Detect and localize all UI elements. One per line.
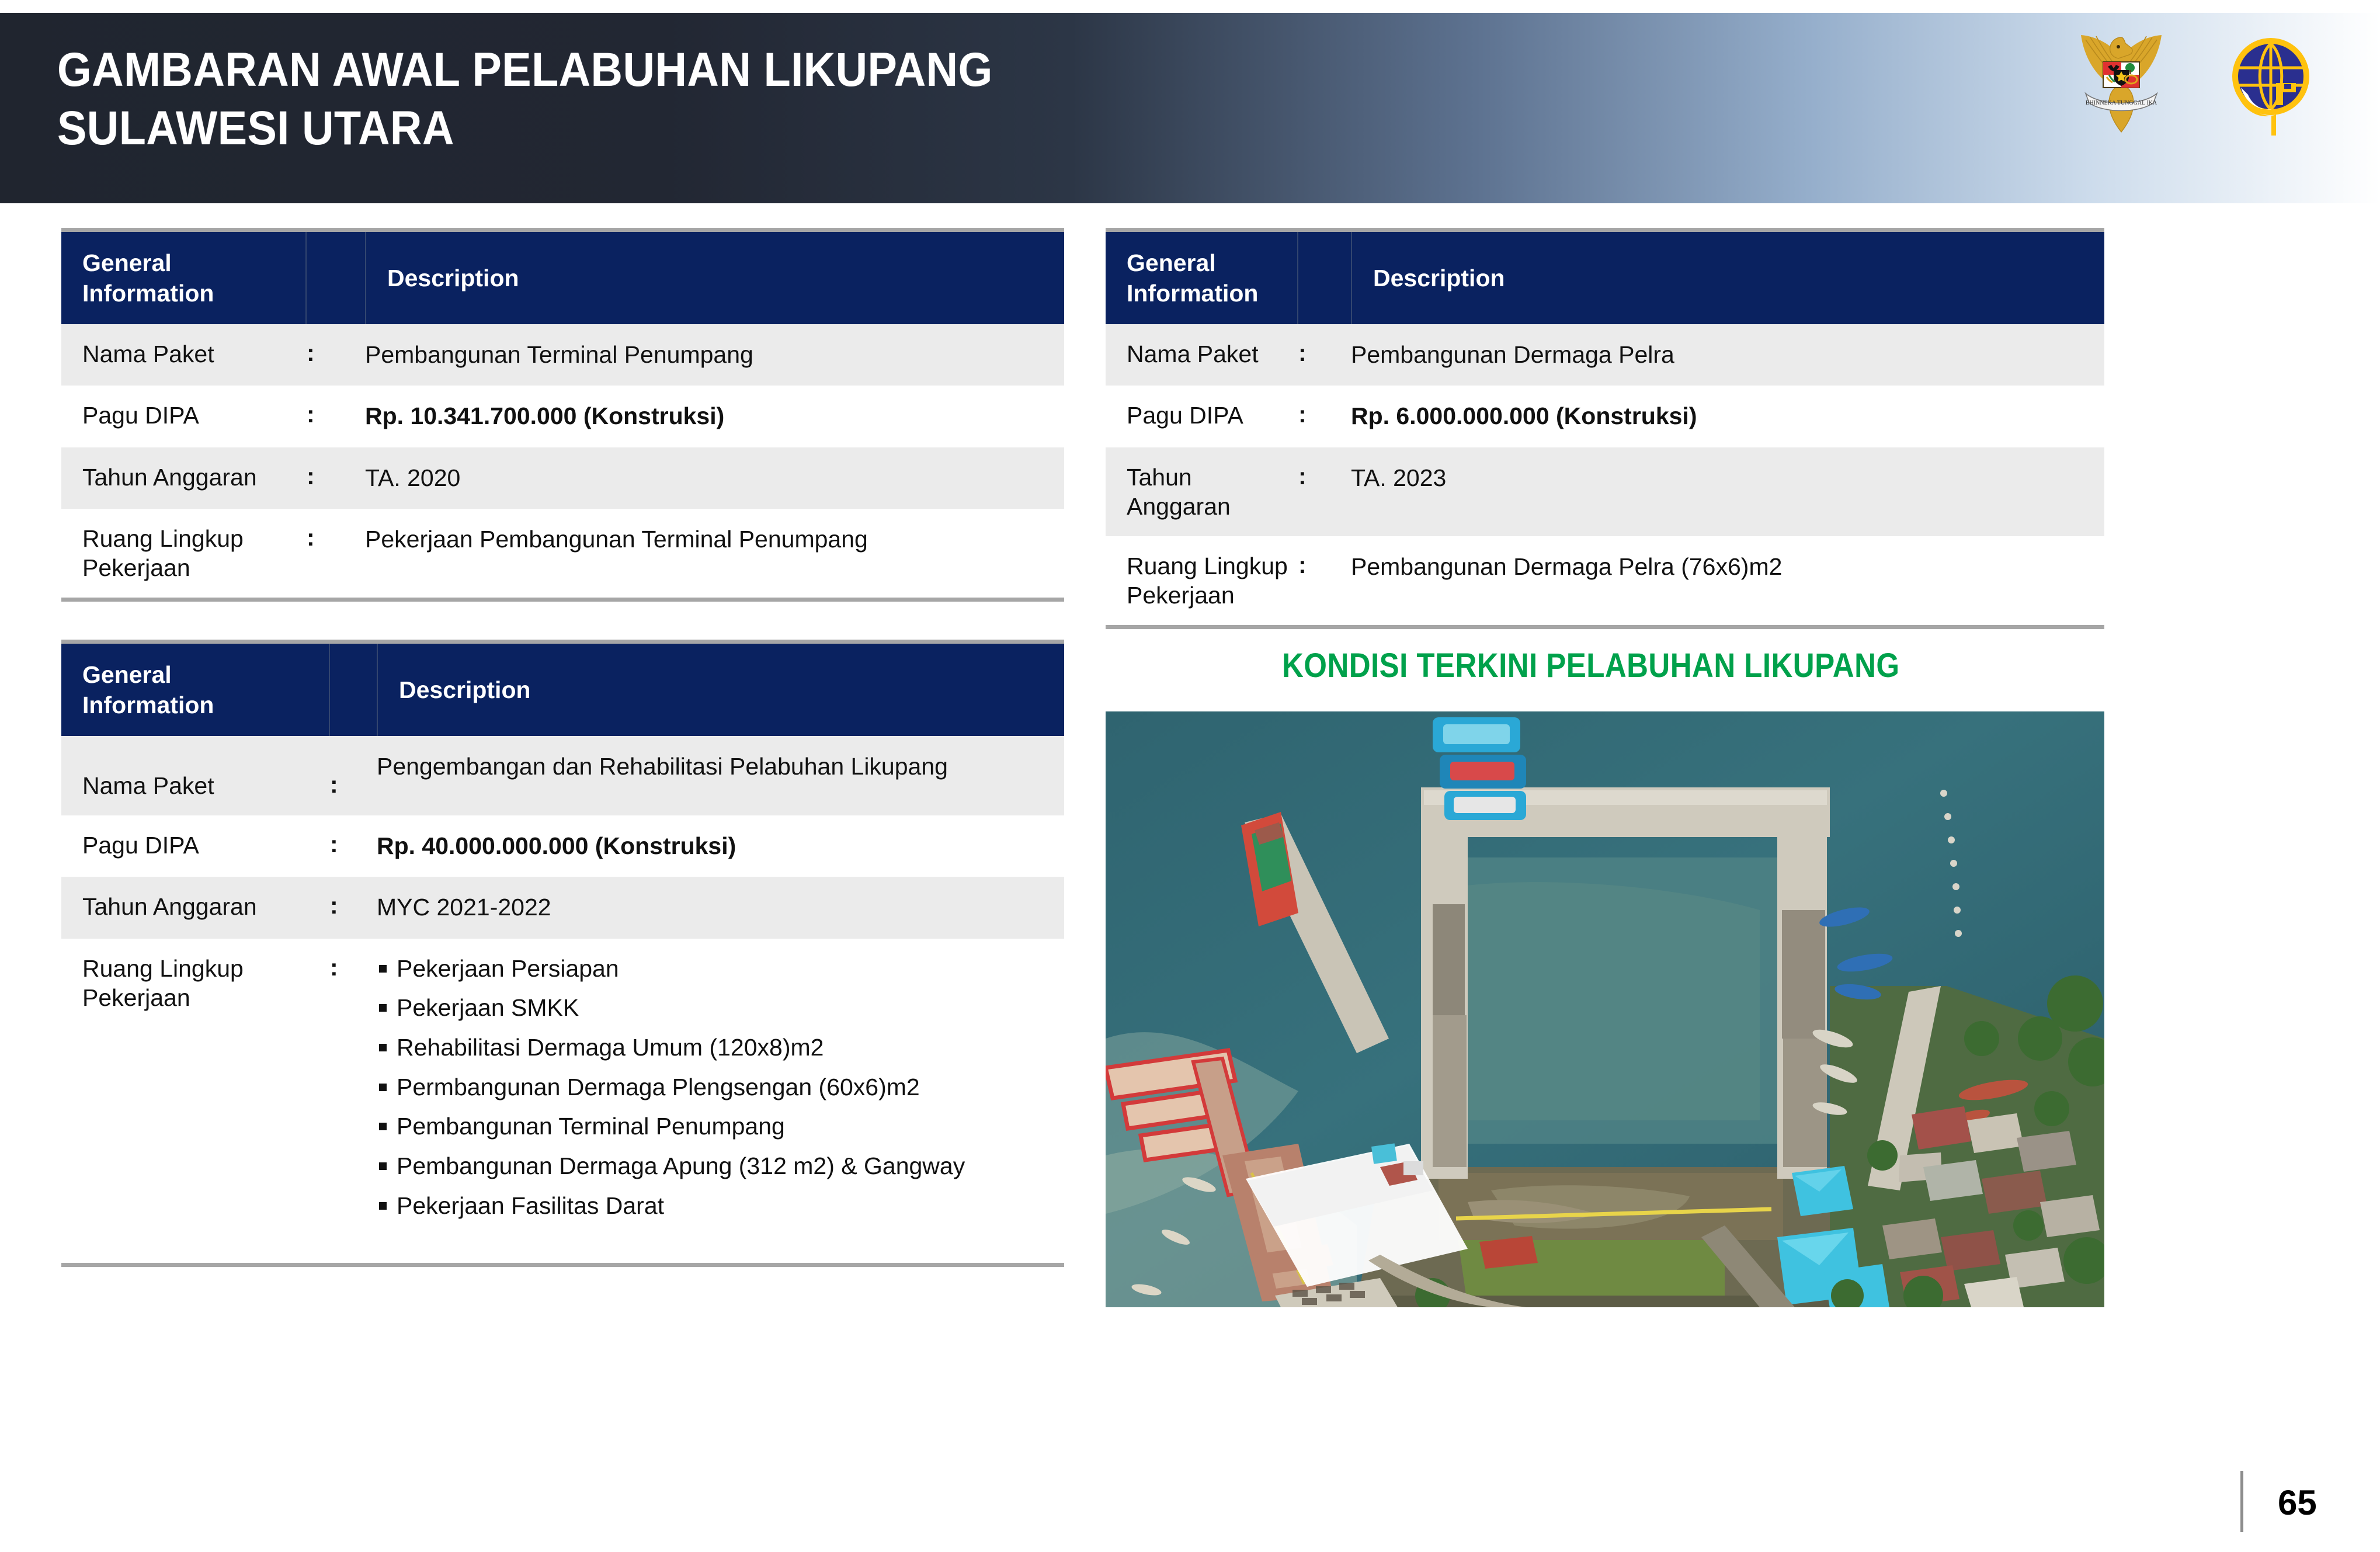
table-terminal-penumpang: General Information Description Nama Pak… [61,228,1064,602]
row-key: Pagu DIPA [61,815,330,875]
table-bottom-rule [61,1263,1064,1267]
table-row: Ruang Lingkup Pekerjaan : Pembangunan De… [1106,536,2104,625]
column-header-general-information: General Information [61,232,307,324]
table-top-rule [61,228,1064,232]
row-separator: : [330,939,377,997]
row-value: Rp. 6.000.000.000 (Konstruksi) [1351,386,2104,447]
scope-list-item: Pembangunan Dermaga Apung (312 m2) & Gan… [377,1151,1029,1182]
row-key: Pagu DIPA [1106,386,1298,445]
table-bottom-rule [61,598,1064,602]
column-header-gap [1298,232,1352,324]
row-key: Tahun Anggaran [1106,447,1298,536]
column-header-description: Description [378,644,1064,736]
table-row: Nama Paket : Pembangunan Dermaga Pelra [1106,324,2104,386]
row-value: Pembangunan Terminal Penumpang [365,324,1064,386]
table-header-row: General Information Description [61,232,1064,324]
row-key: Nama Paket [61,324,307,384]
row-value: MYC 2021-2022 [377,877,1064,938]
row-separator: : [1298,386,1351,443]
row-separator: : [1298,447,1351,505]
svg-text:BHINNEKA TUNGGAL IKA: BHINNEKA TUNGGAL IKA [2086,100,2157,106]
row-key: Ruang Lingkup Pekerjaan [1106,536,1298,625]
row-key: Nama Paket [1106,324,1298,384]
table-bottom-rule [1106,625,2104,629]
table-row: Nama Paket : Pengembangan dan Rehabilita… [61,736,1064,815]
row-separator: : [1298,324,1351,382]
row-separator: : [307,447,365,505]
row-separator: : [307,324,365,382]
table-row: Pagu DIPA : Rp. 40.000.000.000 (Konstruk… [61,815,1064,877]
page-title: GAMBARAN AWAL PELABUHAN LIKUPANG SULAWES… [57,41,1454,158]
row-value: Rp. 10.341.700.000 (Konstruksi) [365,386,1064,447]
table-row: Tahun Anggaran : TA. 2020 [61,447,1064,509]
scope-list-item: Pembangunan Terminal Penumpang [377,1112,1029,1142]
scope-of-work-list: Pekerjaan PersiapanPekerjaan SMKKRehabil… [377,954,1029,1221]
table-top-rule [1106,228,2104,232]
row-separator: : [1298,536,1351,594]
row-value: Pembangunan Dermaga Pelra (76x6)m2 [1351,536,2104,598]
row-key: Nama Paket [61,736,330,815]
row-separator: : [330,736,377,814]
table-pengembangan-rehabilitasi: General Information Description Nama Pak… [61,640,1064,1267]
header-logos: BHINNEKA TUNGGAL IKA [2060,21,2326,147]
row-value: TA. 2020 [365,447,1064,509]
column-header-gap [330,644,378,736]
table-row: Tahun Anggaran : TA. 2023 [1106,447,2104,536]
scope-list-item: Pekerjaan Fasilitas Darat [377,1191,1029,1221]
scope-list-item: Pekerjaan SMKK [377,993,1029,1023]
scope-list-item: Pekerjaan Persiapan [377,954,1029,984]
garuda-pancasila-logo: BHINNEKA TUNGGAL IKA [2060,21,2183,147]
row-value: Pekerjaan Pembangunan Terminal Penumpang [365,509,1064,570]
table-row-scope: Ruang Lingkup Pekerjaan : Pekerjaan Pers… [61,939,1064,1263]
row-value: Pengembangan dan Rehabilitasi Pelabuhan … [377,736,1064,797]
table-row: Pagu DIPA : Rp. 6.000.000.000 (Konstruks… [1106,386,2104,447]
column-header-general-information: General Information [61,644,330,736]
row-separator: : [307,509,365,567]
table-row: Tahun Anggaran : MYC 2021-2022 [61,877,1064,938]
row-value: TA. 2023 [1351,447,2104,509]
row-value-bullets: Pekerjaan PersiapanPekerjaan SMKKRehabil… [377,939,1064,1246]
row-key: Ruang Lingkup Pekerjaan [61,939,330,1027]
table-row: Nama Paket : Pembangunan Terminal Penump… [61,324,1064,386]
scope-list-item: Permbangunan Dermaga Plengsengan (60x6)m… [377,1072,1029,1103]
row-key: Pagu DIPA [61,386,307,445]
kementerian-perhubungan-logo [2215,27,2326,141]
scope-list-item: Rehabilitasi Dermaga Umum (120x8)m2 [377,1033,1029,1063]
table-row: Ruang Lingkup Pekerjaan : Pekerjaan Pemb… [61,509,1064,598]
page-number: 65 [2278,1482,2317,1523]
column-header-general-information: General Information [1106,232,1298,324]
row-value: Rp. 40.000.000.000 (Konstruksi) [377,815,1064,877]
photo-section-heading: KONDISI TERKINI PELABUHAN LIKUPANG [1282,646,1900,685]
table-dermaga-pelra: General Information Description Nama Pak… [1106,228,2104,629]
column-header-description: Description [1352,232,2104,324]
footer-divider [2240,1471,2243,1532]
row-key: Tahun Anggaran [61,877,330,936]
row-key: Tahun Anggaran [61,447,307,507]
row-value: Pembangunan Dermaga Pelra [1351,324,2104,386]
row-separator: : [330,815,377,873]
table-row: Pagu DIPA : Rp. 10.341.700.000 (Konstruk… [61,386,1064,447]
row-separator: : [307,386,365,443]
column-header-gap [307,232,366,324]
table-header-row: General Information Description [1106,232,2104,324]
column-header-description: Description [366,232,1064,324]
table-top-rule [61,640,1064,644]
table-header-row: General Information Description [61,644,1064,736]
row-separator: : [330,877,377,935]
row-key: Ruang Lingkup Pekerjaan [61,509,307,598]
aerial-photo-pelabuhan-likupang [1106,711,2104,1307]
